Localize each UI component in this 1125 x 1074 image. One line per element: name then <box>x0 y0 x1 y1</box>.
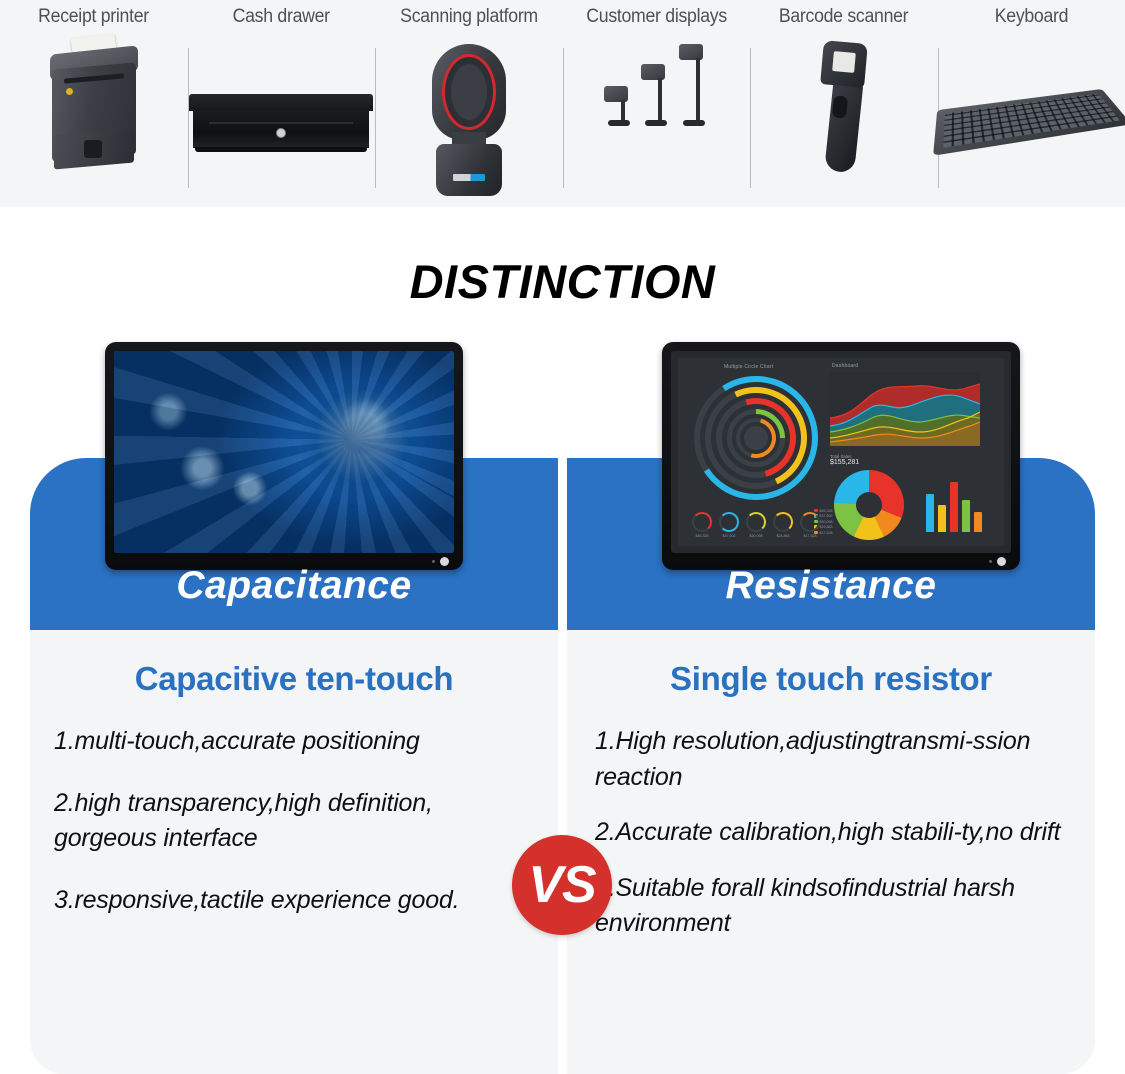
gauge-item: $46,328 <box>692 512 712 538</box>
keyboard-icon <box>938 28 1125 207</box>
product-item-customer-displays[interactable]: Customer displays <box>563 0 751 207</box>
total-sales-value: $155,281 <box>830 459 859 466</box>
dashboard-image: Multiple Circle Chart <box>671 351 1011 553</box>
page-title: DISTINCTION <box>0 254 1125 309</box>
comparison-column-resistance: Multiple Circle Chart <box>567 330 1095 1074</box>
area-chart <box>830 372 980 446</box>
product-item-receipt-printer[interactable]: Receipt printer <box>0 0 188 207</box>
left-screen <box>114 351 454 553</box>
gauge-item: $30,098 <box>746 512 766 538</box>
scanning-platform-icon <box>375 28 563 207</box>
area-chart-svg <box>830 372 980 446</box>
sales-donut-chart <box>834 470 904 540</box>
gauge-item: $24,883 <box>773 512 793 538</box>
product-item-cash-drawer[interactable]: Cash drawer <box>188 0 376 207</box>
feature-item: 1.multi-touch,accurate positioning <box>54 724 534 760</box>
feature-item: 3.Suitable forall kindsofindustrial hars… <box>595 871 1077 942</box>
gauge-item: $37,502 <box>719 512 739 538</box>
left-device-label: Capacitance <box>30 564 558 608</box>
comparison-section: Capacitance Capacitive ten-touch 1.multi… <box>0 330 1125 1074</box>
customer-displays-icon <box>563 0 751 173</box>
left-card-heading: Capacitive ten-touch <box>30 630 558 698</box>
kpi-gauges: $46,328 $37,502 $30,098 <box>692 512 820 538</box>
product-strip: Receipt printer Cash drawer Scanning pla… <box>0 0 1125 207</box>
right-feature-card: Single touch resistor 1.High resolution,… <box>567 630 1095 1074</box>
feature-item: 1.High resolution,adjustingtransmi-ssion… <box>595 724 1077 795</box>
product-label: Cash drawer <box>233 6 330 28</box>
receipt-printer-icon <box>0 28 188 207</box>
multiple-circle-chart-title: Multiple Circle Chart <box>724 364 773 370</box>
gauge-item: $17,528 <box>800 512 820 538</box>
comparison-column-capacitance: Capacitance Capacitive ten-touch 1.multi… <box>30 330 558 1074</box>
cash-drawer-icon <box>188 28 376 207</box>
sensor-dot-icon <box>432 560 435 563</box>
right-card-heading: Single touch resistor <box>567 630 1095 698</box>
feature-item: 2.Accurate calibration,high stabili-ty,n… <box>595 815 1077 851</box>
right-feature-list: 1.High resolution,adjustingtransmi-ssion… <box>567 698 1095 942</box>
product-item-keyboard[interactable]: Keyboard <box>938 0 1125 207</box>
blue-rose-image <box>114 351 454 553</box>
dashboard-chart-title: Dashboard <box>832 363 858 369</box>
right-monitor: Multiple Circle Chart <box>662 342 1020 570</box>
multiple-circle-chart <box>694 376 818 500</box>
product-label: Receipt printer <box>38 6 149 28</box>
feature-item: 2.high transparency,high definition, gor… <box>54 786 534 857</box>
vs-badge: VS <box>512 835 612 935</box>
product-label: Keyboard <box>995 6 1068 28</box>
product-item-scanning-platform[interactable]: Scanning platform <box>375 0 563 207</box>
product-label: Scanning platform <box>400 6 538 28</box>
product-comparison-page: Receipt printer Cash drawer Scanning pla… <box>0 0 1125 1074</box>
right-device-label: Resistance <box>567 564 1095 608</box>
left-feature-list: 1.multi-touch,accurate positioning 2.hig… <box>30 698 558 918</box>
total-sales-block: Total Sales $155,281 <box>830 454 859 466</box>
feature-item: 3.responsive,tactile experience good. <box>54 883 534 919</box>
right-screen: Multiple Circle Chart <box>671 351 1011 553</box>
sensor-dot-icon <box>989 560 992 563</box>
product-label: Barcode scanner <box>779 6 908 28</box>
left-feature-card: Capacitive ten-touch 1.multi-touch,accur… <box>30 630 558 1074</box>
product-item-barcode-scanner[interactable]: Barcode scanner <box>750 0 938 207</box>
barcode-scanner-icon <box>750 28 938 207</box>
left-monitor <box>105 342 463 570</box>
sales-bar-chart <box>926 470 982 532</box>
